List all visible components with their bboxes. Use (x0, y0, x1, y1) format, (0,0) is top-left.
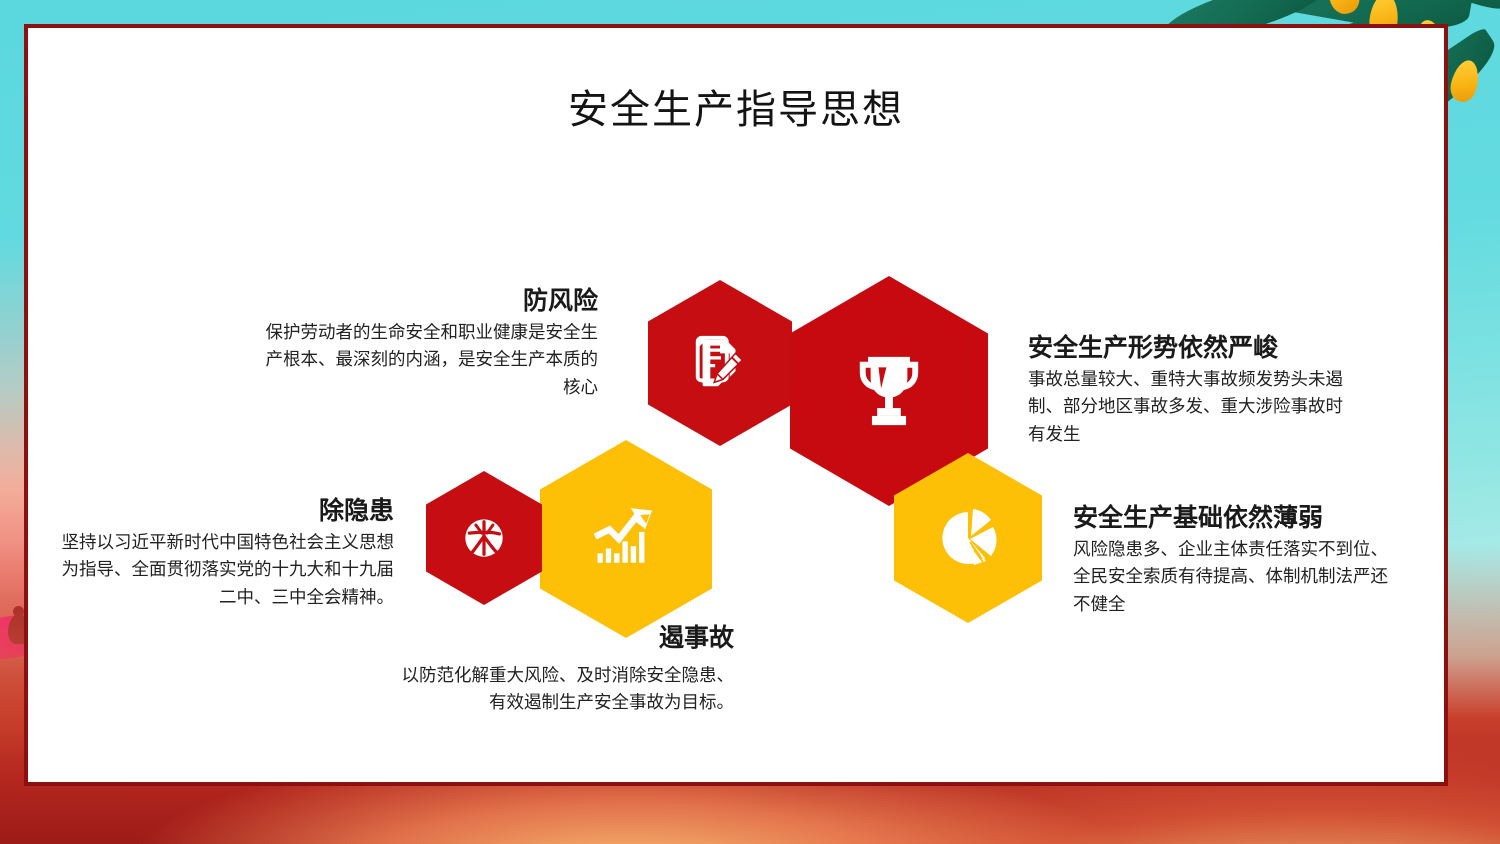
page-title: 安全生产指导思想 (28, 86, 1444, 134)
hexagon-document[interactable] (648, 280, 792, 446)
document-pencil-icon (689, 332, 751, 394)
body-jichu: 风险隐患多、企业主体责任落实不到位、全民安全索质有待提高、体制机制法严还不健全 (1073, 536, 1388, 617)
heading-chuyinhuan: 除隐患 (56, 496, 394, 527)
trophy-icon (847, 349, 931, 433)
text-block-chuyinhuan: 除隐患 坚持以习近平新时代中国特色社会主义思想为指导、全面贯彻落实党的十九大和十… (56, 496, 394, 611)
text-block-fangfengxian: 防风险 保护劳动者的生命安全和职业健康是安全生产根本、最深刻的内涵，是安全生产本… (260, 286, 598, 401)
heading-jichu: 安全生产基础依然薄弱 (1073, 503, 1388, 534)
body-xingshi: 事故总量较大、重特大事故频发势头未遏制、部分地区事故多发、重大涉险事故时有发生 (1028, 366, 1358, 447)
slide-canvas: 安全生产指导思想 (0, 0, 1500, 844)
hexagon-growth-chart[interactable] (540, 440, 712, 638)
heading-fangfengxian: 防风险 (260, 286, 598, 317)
text-block-jichu: 安全生产基础依然薄弱 风险隐患多、企业主体责任落实不到位、全民安全索质有待提高、… (1073, 503, 1388, 618)
body-eshigu: 以防范化解重大风险、及时消除安全隐患、有效遏制生产安全事故为目标。 (396, 662, 734, 716)
heading-eshigu: 遏事故 (396, 623, 734, 654)
pie-chart-icon (936, 506, 1000, 570)
body-chuyinhuan: 坚持以习近平新时代中国特色社会主义思想为指导、全面贯彻落实党的十九大和十九届二中… (56, 529, 394, 610)
body-fangfengxian: 保护劳动者的生命安全和职业健康是安全生产根本、最深刻的内涵，是安全生产本质的核心 (260, 319, 598, 400)
growth-chart-icon (588, 501, 664, 577)
text-block-eshigu: 遏事故 以防范化解重大风险、及时消除安全隐患、有效遏制生产安全事故为目标。 (396, 623, 734, 717)
heading-xingshi: 安全生产形势依然严峻 (1028, 333, 1358, 364)
slide-frame: 安全生产指导思想 (24, 24, 1448, 786)
emblem-circle-icon (458, 512, 510, 564)
hexagon-emblem[interactable] (426, 471, 542, 605)
text-block-xingshi: 安全生产形势依然严峻 事故总量较大、重特大事故频发势头未遏制、部分地区事故多发、… (1028, 333, 1358, 448)
